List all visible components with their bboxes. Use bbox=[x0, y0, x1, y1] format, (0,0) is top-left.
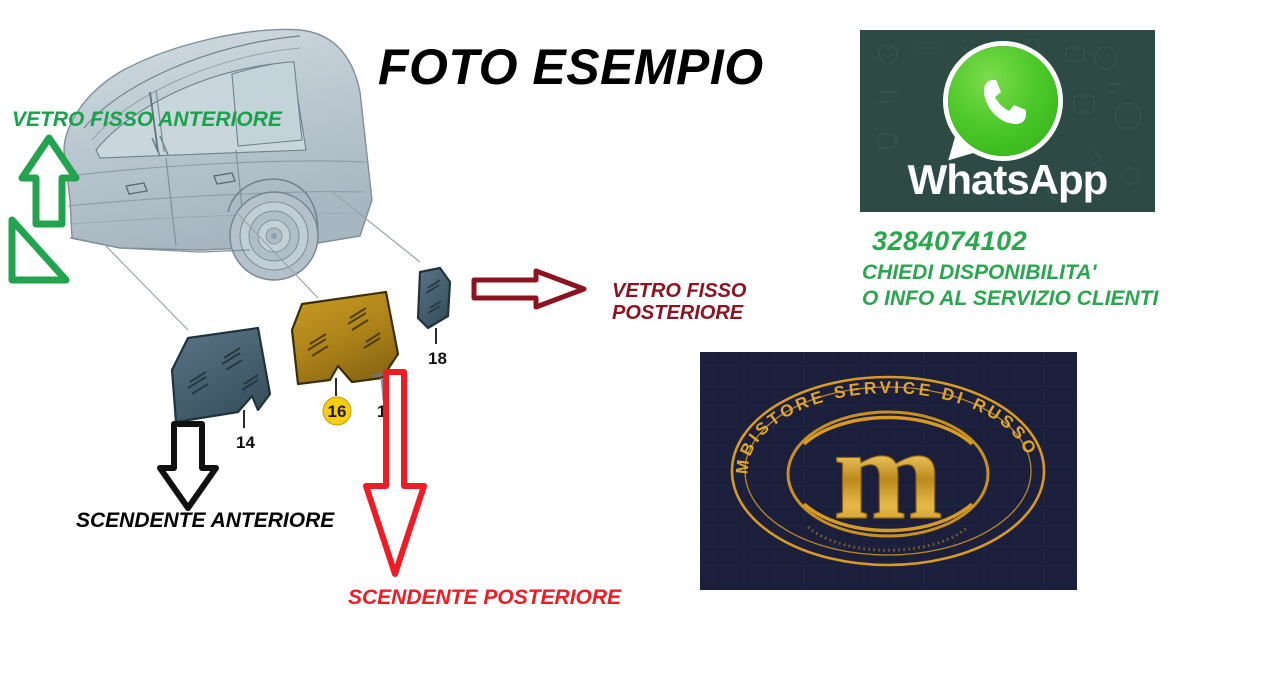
label-vetro-fisso-anteriore: VETRO FISSO ANTERIORE bbox=[12, 108, 282, 132]
up-arrow-outline-green bbox=[4, 132, 84, 288]
label-vetro-fisso-posteriore-line1: VETRO FISSO bbox=[612, 280, 822, 302]
poster-canvas: 14 16 17 18 FOTO ESEMPIO bbox=[0, 0, 1264, 678]
shop-logo-monogram: m bbox=[833, 400, 943, 547]
car-body-illustration bbox=[64, 29, 372, 280]
phone-number[interactable]: 3284074102 bbox=[872, 226, 1202, 257]
svg-text:m: m bbox=[833, 400, 943, 547]
label-vetro-fisso-posteriore: VETRO FISSO POSTERIORE bbox=[612, 280, 822, 325]
contact-line-2: O INFO AL SERVIZIO CLIENTI bbox=[862, 287, 1202, 311]
triangle-outline-green bbox=[12, 220, 66, 280]
label-vetro-fisso-posteriore-line2: POSTERIORE bbox=[612, 302, 822, 324]
right-arrow-outline-darkred bbox=[470, 266, 590, 312]
part-18-shape bbox=[418, 268, 450, 344]
shop-logo-svg: MRICAMBISTORE SERVICE DI RUSSO MARCO m bbox=[700, 352, 1077, 590]
contact-block: 3284074102 CHIEDI DISPONIBILITA' O INFO … bbox=[862, 226, 1202, 311]
label-scendente-anteriore: SCENDENTE ANTERIORE bbox=[76, 509, 334, 533]
whatsapp-banner[interactable]: WhatsApp bbox=[860, 30, 1155, 212]
part-number-18: 18 bbox=[428, 349, 447, 368]
down-arrow-outline-black bbox=[152, 420, 224, 512]
label-scendente-posteriore: SCENDENTE POSTERIORE bbox=[348, 586, 621, 610]
scendente-posteriore-arrow bbox=[358, 368, 434, 585]
contact-line-1: CHIEDI DISPONIBILITA' bbox=[862, 261, 1202, 285]
scendente-anteriore-arrow bbox=[152, 420, 224, 517]
shop-logo: MRICAMBISTORE SERVICE DI RUSSO MARCO m bbox=[700, 352, 1077, 590]
part-14-shape bbox=[172, 328, 270, 428]
down-arrow-outline-red bbox=[358, 368, 434, 580]
page-title: FOTO ESEMPIO bbox=[378, 38, 764, 96]
whatsapp-phone-icon bbox=[978, 74, 1030, 130]
vetro-fisso-anteriore-arrow bbox=[4, 132, 84, 293]
vetro-fisso-posteriore-arrow bbox=[470, 266, 590, 317]
part-number-14: 14 bbox=[236, 433, 255, 452]
whatsapp-wordmark: WhatsApp bbox=[860, 156, 1155, 204]
part-number-16: 16 bbox=[328, 402, 347, 421]
